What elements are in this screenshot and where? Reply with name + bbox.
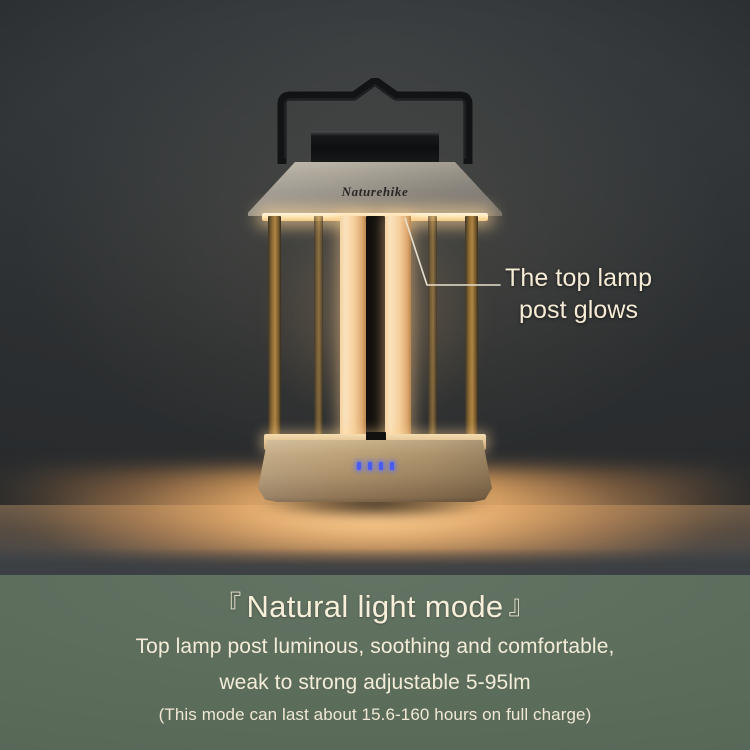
mode-heading: 『Natural light mode』	[0, 588, 750, 625]
lamp-post-inner-right	[385, 216, 411, 444]
lamp-base-sheen	[258, 440, 492, 502]
product-photo-scene: Naturehike	[0, 0, 750, 575]
brand-label: Naturehike	[248, 184, 502, 200]
description-line-3: (This mode can last about 15.6-160 hours…	[0, 705, 750, 725]
description-line-1: Top lamp post luminous, soothing and com…	[0, 635, 750, 659]
lamp-post-right-rear	[428, 216, 437, 444]
callout-text: The top lamp post glows	[505, 262, 735, 326]
description-line-2: weak to strong adjustable 5-95lm	[0, 671, 750, 695]
led-dot	[368, 462, 372, 470]
led-dot	[390, 462, 394, 470]
solar-panel-highlight	[311, 131, 439, 136]
lamp-post-center	[366, 216, 385, 444]
product-feature-image: Naturehike	[0, 0, 750, 750]
lamp-post-inner-left	[340, 216, 366, 444]
bracket-close-icon: 』	[508, 590, 534, 620]
lamp-post-outer-right	[465, 216, 478, 444]
solar-panel	[311, 131, 439, 163]
lamp-shade: Naturehike	[248, 162, 502, 216]
callout-line-1: The top lamp	[505, 264, 652, 292]
led-dot	[357, 462, 361, 470]
battery-led-indicator	[258, 462, 492, 470]
lamp-base	[258, 440, 492, 502]
mode-heading-text: Natural light mode	[247, 589, 504, 624]
description-panel: 『Natural light mode』 Top lamp post lumin…	[0, 575, 750, 750]
lamp-posts	[262, 216, 488, 444]
callout-line-2: post glows	[519, 294, 735, 326]
lamp-post-left-rear	[314, 216, 323, 444]
bracket-open-icon: 『	[215, 590, 241, 620]
lamp-post-outer-left	[268, 216, 281, 444]
led-dot	[379, 462, 383, 470]
